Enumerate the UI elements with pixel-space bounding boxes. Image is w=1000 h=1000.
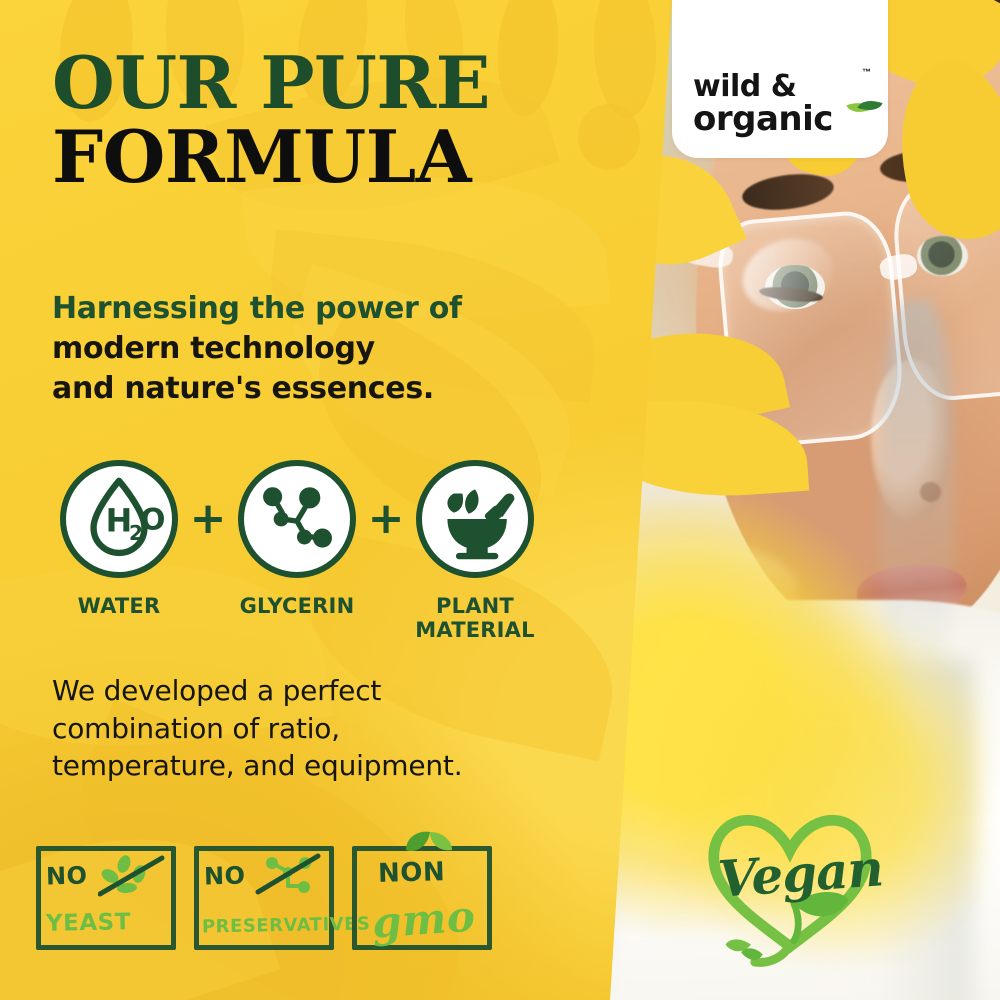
trademark-symbol: ™ [862,67,871,77]
badge-no-preservatives: NO PRESERVATIVES [194,846,334,950]
certification-badges: NO YEAST NO [36,846,492,950]
badge-no-preservatives-word2: PRESERVATIVES [202,914,371,938]
badge-no-yeast-word1: NO [46,861,88,890]
subheading-line1: Harnessing the power of [52,289,552,329]
headline-line1: OUR PURE [52,48,592,118]
ingredient-glycerin: GLYCERIN [230,460,364,619]
molecule-icon [238,460,356,578]
page-title: OUR PURE FORMULA [52,48,592,192]
molecule-crossed-icon [254,852,324,896]
ingredient-label-water: WATER [78,595,161,619]
poster-canvas: wild & organic ™ OUR PURE FORMULA Harnes… [0,0,1000,1000]
ingredient-label-plant-material: PLANT MATERIAL [415,595,534,642]
badge-no-yeast-word2: YEAST [46,909,131,936]
svg-text:O: O [140,502,165,537]
logo-text-line1: wild & [693,73,867,101]
plus-separator-1: + [186,460,230,578]
headline-line2: FORMULA [52,122,592,192]
ingredient-plant-material: PLANT MATERIAL [408,460,542,642]
vegan-label: Vegan [716,838,884,908]
badge-non-gmo-word2: gmo [370,891,476,947]
leaf-icon [398,828,458,858]
vegan-badge: Vegan [692,798,888,970]
body-line2: combination of ratio, [52,710,512,748]
plant-label-line2: MATERIAL [415,618,534,642]
badge-non-gmo-word1: NON [378,857,446,889]
water-drop-h2o-icon: H 2 O [60,460,178,578]
badge-no-yeast: NO YEAST [36,846,176,950]
logo-text-line2: organic [693,104,867,136]
body-line1: We developed a perfect [52,672,512,710]
badge-non-gmo: NON gmo [352,846,492,950]
ingredient-label-glycerin: GLYCERIN [240,595,355,619]
body-line3: temperature, and equipment. [52,747,512,785]
ingredient-water: H 2 O WATER [52,460,186,619]
yeast-cells-crossed-icon [98,854,168,898]
subheading-line2: modern technology [52,329,552,369]
badge-no-preservatives-word1: NO [204,861,246,890]
plus-separator-2: + [364,460,408,578]
plant-label-line1: PLANT [436,594,514,618]
subheading-line3: and nature's essences. [52,369,552,409]
subheading: Harnessing the power of modern technolog… [52,289,552,409]
mortar-and-pestle-icon [416,460,534,578]
ingredient-list: H 2 O WATER + [52,460,572,642]
brand-logo-card[interactable]: wild & organic ™ [672,0,888,158]
decor-leaf [592,0,659,119]
body-paragraph: We developed a perfect combination of ra… [52,672,512,785]
